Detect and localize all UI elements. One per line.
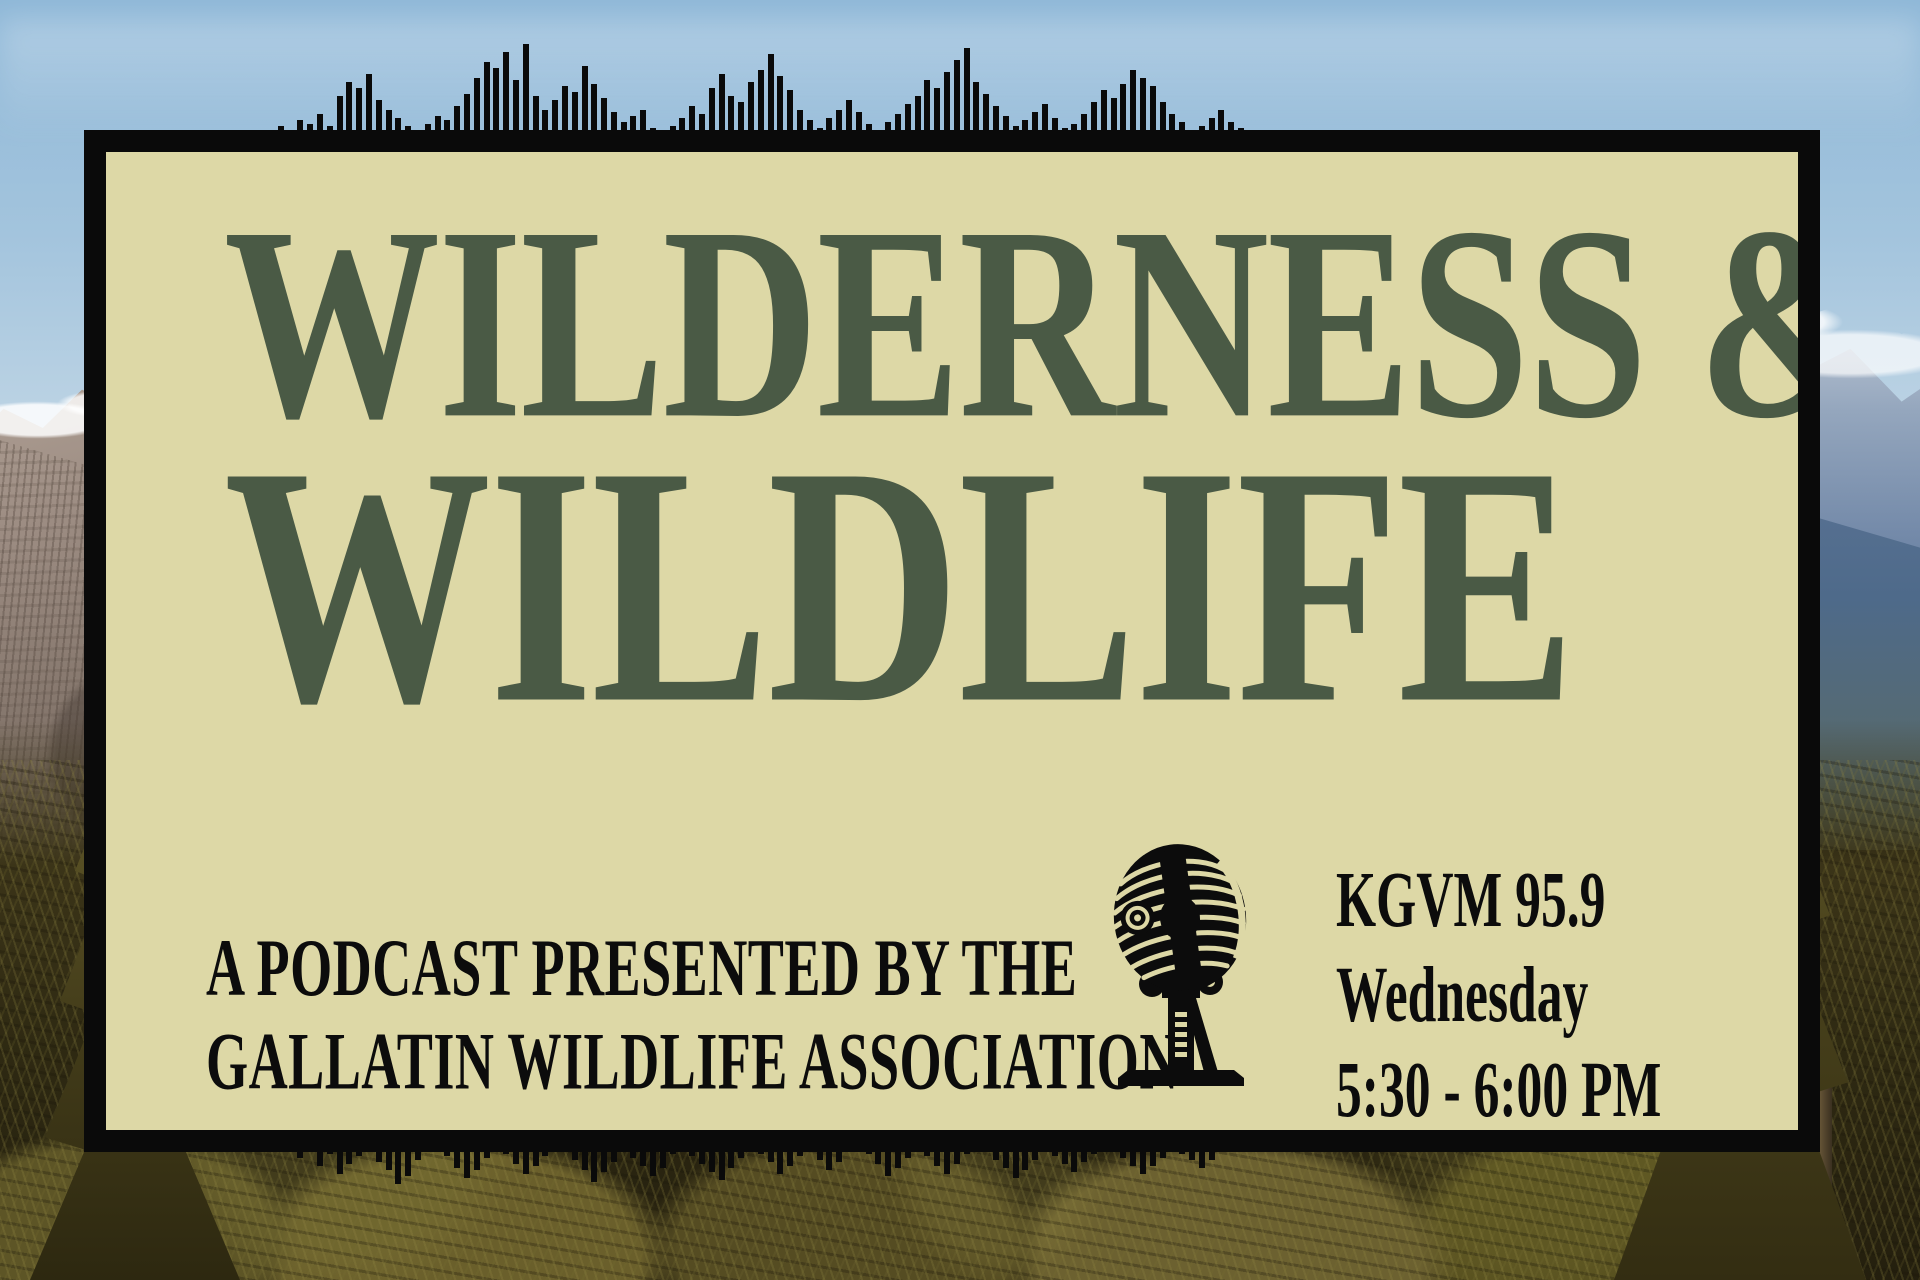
broadcast-time: 5:30 - 6:00 PM (1336, 1042, 1661, 1130)
subtitle-block: A PODCAST PRESENTED BY THE GALLATIN WILD… (206, 922, 1179, 1109)
waveform-bar (964, 48, 970, 140)
podcast-poster: WILDERNESS & WILDLIFE A PODCAST PRESENTE… (0, 0, 1920, 1280)
broadcast-day: Wednesday (1336, 947, 1661, 1042)
poster-frame: WILDERNESS & WILDLIFE A PODCAST PRESENTE… (84, 130, 1820, 1152)
title-block: WILDERNESS & WILDLIFE (224, 210, 1798, 661)
broadcast-info-block: KGVM 95.9 Wednesday 5:30 - 6:00 PM (1336, 852, 1661, 1130)
audio-waveform-bottom (268, 1140, 1257, 1280)
retro-microphone-icon (1076, 842, 1286, 1092)
audio-waveform-top (268, 0, 1257, 140)
waveform-bar (768, 54, 774, 140)
waveform-bar (954, 60, 960, 140)
subtitle-line-1: A PODCAST PRESENTED BY THE (206, 922, 1179, 1015)
subtitle-line-2: GALLATIN WILDLIFE ASSOCIATION (206, 1015, 1179, 1108)
station-name: KGVM 95.9 (1336, 852, 1661, 947)
waveform-bar (484, 62, 490, 140)
waveform-bar (582, 66, 588, 140)
poster-card: WILDERNESS & WILDLIFE A PODCAST PRESENTE… (106, 152, 1798, 1130)
title-line-2: WILDLIFE (224, 446, 1798, 725)
waveform-bar (523, 44, 529, 140)
waveform-bar (503, 52, 509, 140)
